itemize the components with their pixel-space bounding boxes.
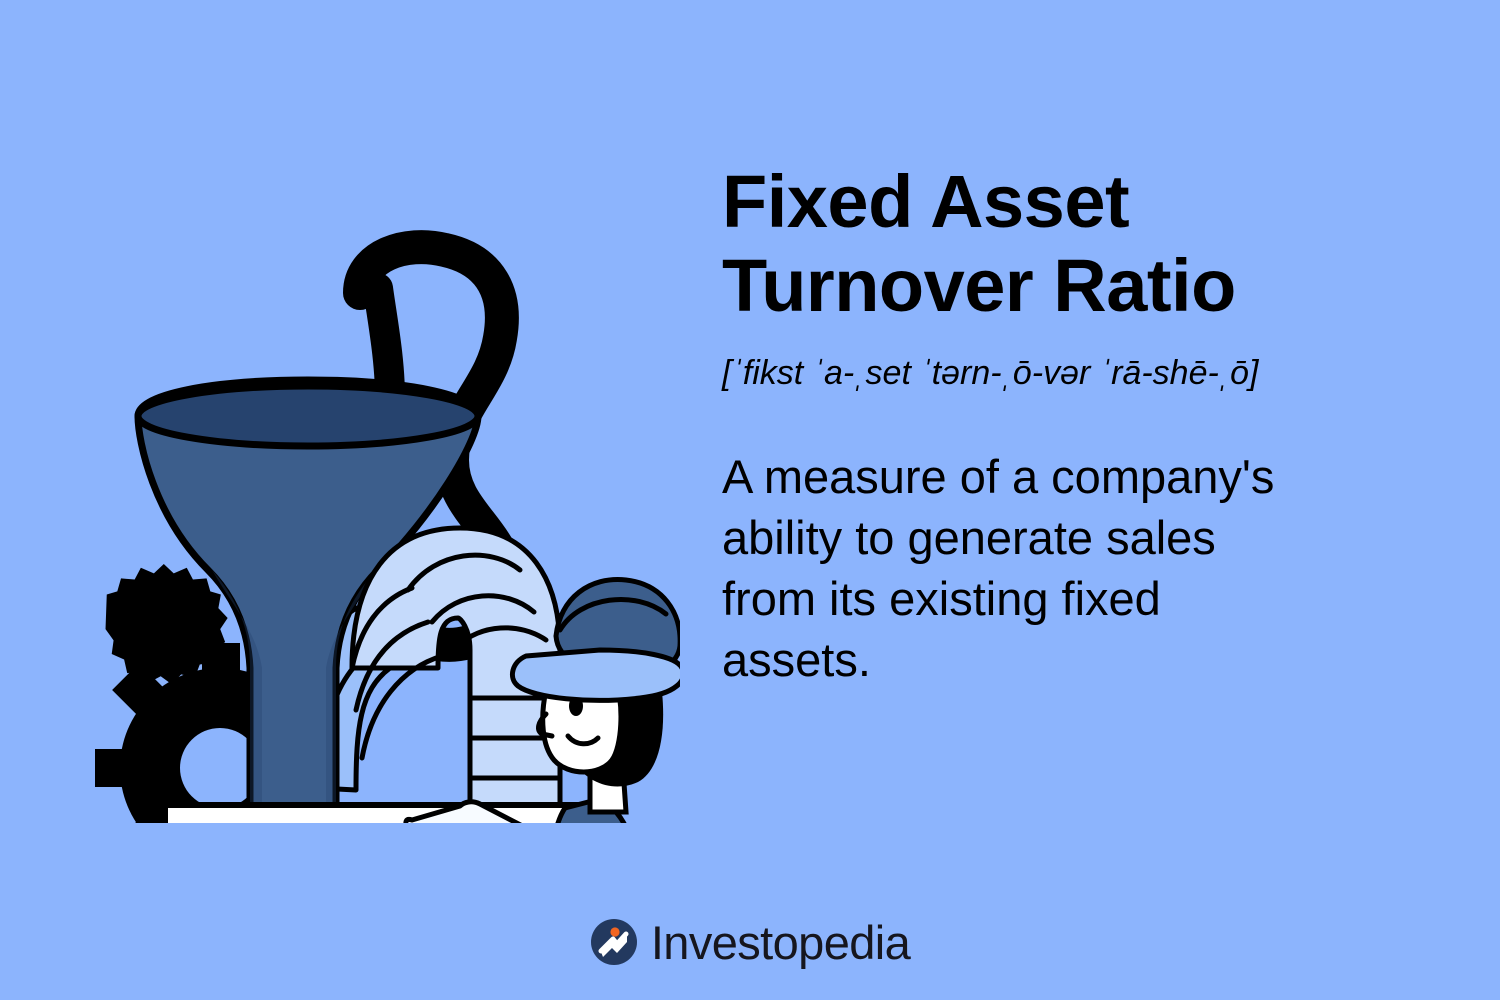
illustration-funnel-machine: $ — [60, 198, 680, 823]
text-column: Fixed Asset Turnover Ratio [ˈfikst ˈa-ˌs… — [722, 160, 1362, 690]
person-cap-brim — [512, 650, 680, 700]
investopedia-logo-icon — [590, 918, 638, 966]
brand-wordmark: Investopedia — [651, 919, 910, 966]
brand-logo: Investopedia — [0, 918, 1500, 966]
machine-panel: $ — [165, 805, 595, 823]
definition-text: A measure of a company's ability to gene… — [722, 394, 1307, 690]
pronunciation-text: [ˈfikst ˈa-ˌset ˈtərn-ˌō-vər ˈrā-shē-ˌō] — [722, 327, 1362, 394]
infographic-page: $ — [0, 0, 1500, 1000]
page-title: Fixed Asset Turnover Ratio — [722, 160, 1362, 327]
